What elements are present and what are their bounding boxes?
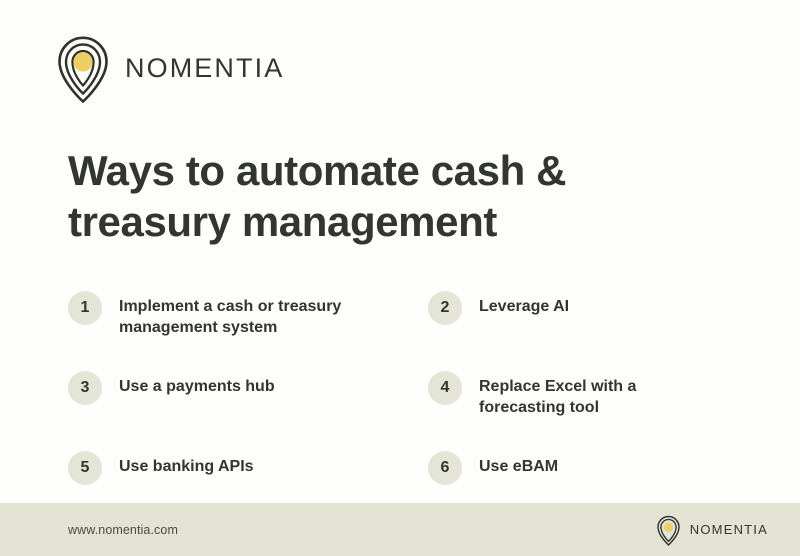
nomentia-pin-logo-icon — [55, 33, 111, 103]
nomentia-pin-logo-icon — [656, 514, 681, 546]
footer-brand-lockup: NOMENTIA — [656, 514, 768, 546]
list-item-label: Replace Excel with a forecasting tool — [479, 370, 694, 418]
website-url[interactable]: www.nomentia.com — [68, 523, 178, 537]
list-item: 5 Use banking APIs — [68, 450, 428, 485]
list-item-label: Leverage AI — [479, 290, 569, 317]
list-item: 2 Leverage AI — [428, 290, 734, 338]
list-item-label: Use a payments hub — [119, 370, 275, 397]
list-item: 6 Use eBAM — [428, 450, 734, 485]
list-item: 1 Implement a cash or treasury managemen… — [68, 290, 428, 338]
numbered-list: 1 Implement a cash or treasury managemen… — [68, 290, 734, 485]
list-item: 3 Use a payments hub — [68, 370, 428, 418]
item-number-badge: 1 — [68, 291, 102, 325]
item-number-badge: 2 — [428, 291, 462, 325]
list-item: 4 Replace Excel with a forecasting tool — [428, 370, 734, 418]
brand-wordmark: NOMENTIA — [125, 55, 284, 82]
item-number-badge: 6 — [428, 451, 462, 485]
brand-logo-lockup: NOMENTIA — [55, 33, 284, 103]
list-item-label: Use eBAM — [479, 450, 558, 477]
item-number-badge: 5 — [68, 451, 102, 485]
page-title: Ways to automate cash & treasury managem… — [68, 146, 688, 248]
item-number-badge: 3 — [68, 371, 102, 405]
infographic-slide: NOMENTIA Ways to automate cash & treasur… — [0, 0, 800, 556]
list-item-label: Use banking APIs — [119, 450, 254, 477]
footer-bar: www.nomentia.com NOMENTIA — [0, 503, 800, 556]
list-item-label: Implement a cash or treasury management … — [119, 290, 404, 338]
footer-wordmark: NOMENTIA — [690, 522, 768, 537]
item-number-badge: 4 — [428, 371, 462, 405]
